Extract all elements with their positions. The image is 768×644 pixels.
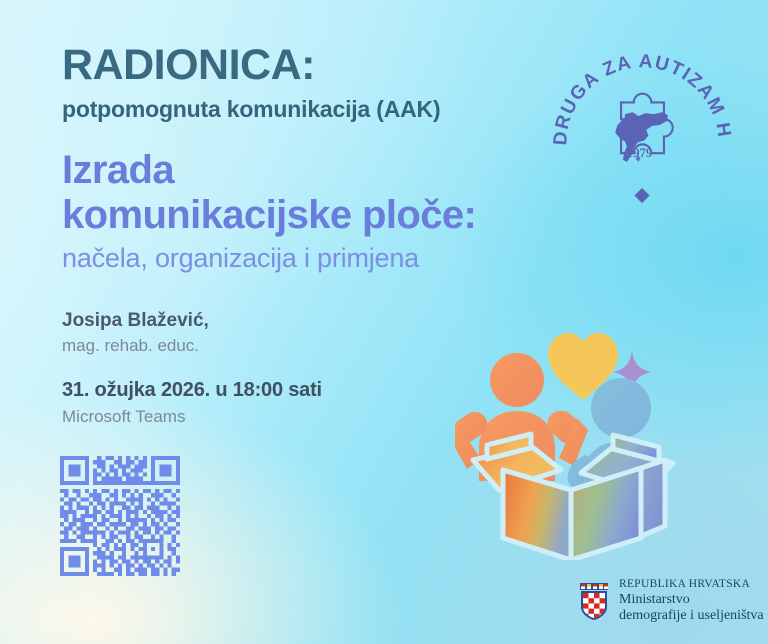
ministry-text: REPUBLIKA HRVATSKA Ministarstvo demograf… (619, 578, 764, 625)
headline-line-2: komunikacijske ploče: (62, 193, 532, 238)
headline-line-1: Izrada (62, 148, 532, 193)
logo-year: 1979 (627, 146, 652, 160)
ministry-line-1: REPUBLIKA HRVATSKA (619, 578, 764, 592)
poster-headline: Izrada komunikacijske ploče: (62, 148, 532, 238)
speaker-role: mag. rehab. educ. (62, 336, 532, 356)
diamond-ornament-icon (634, 188, 649, 203)
qr-code[interactable]: QR kod (60, 456, 180, 576)
ministry-line-2: Ministarstvo (619, 592, 764, 609)
event-date: 31. ožujka 2026. u 18:00 sati (62, 378, 532, 402)
poster-kicker: potpomognuta komunikacija (AAK) (62, 97, 532, 122)
speaker-name: Josipa Blažević, (62, 310, 532, 333)
ministry-logo: REPUBLIKA HRVATSKA Ministarstvo demograf… (578, 578, 764, 625)
savez-udruga-za-autizam-hrvatske-logo: SAVEZ UDRUGA ZA AUTIZAM HRVATSKE 1979 (545, 42, 740, 237)
poster-text-block: RADIONICA: potpomognuta komunikacija (AA… (62, 44, 532, 428)
headline-subtitle: načela, organizacija i primjena (62, 242, 532, 274)
croatian-coat-of-arms-icon (578, 581, 610, 621)
ministry-line-3: demografije i useljeništva (619, 608, 764, 625)
poster-canvas: RADIONICA: potpomognuta komunikacija (AA… (0, 0, 768, 644)
poster-title: RADIONICA: (62, 44, 532, 88)
event-platform: Microsoft Teams (62, 407, 532, 427)
